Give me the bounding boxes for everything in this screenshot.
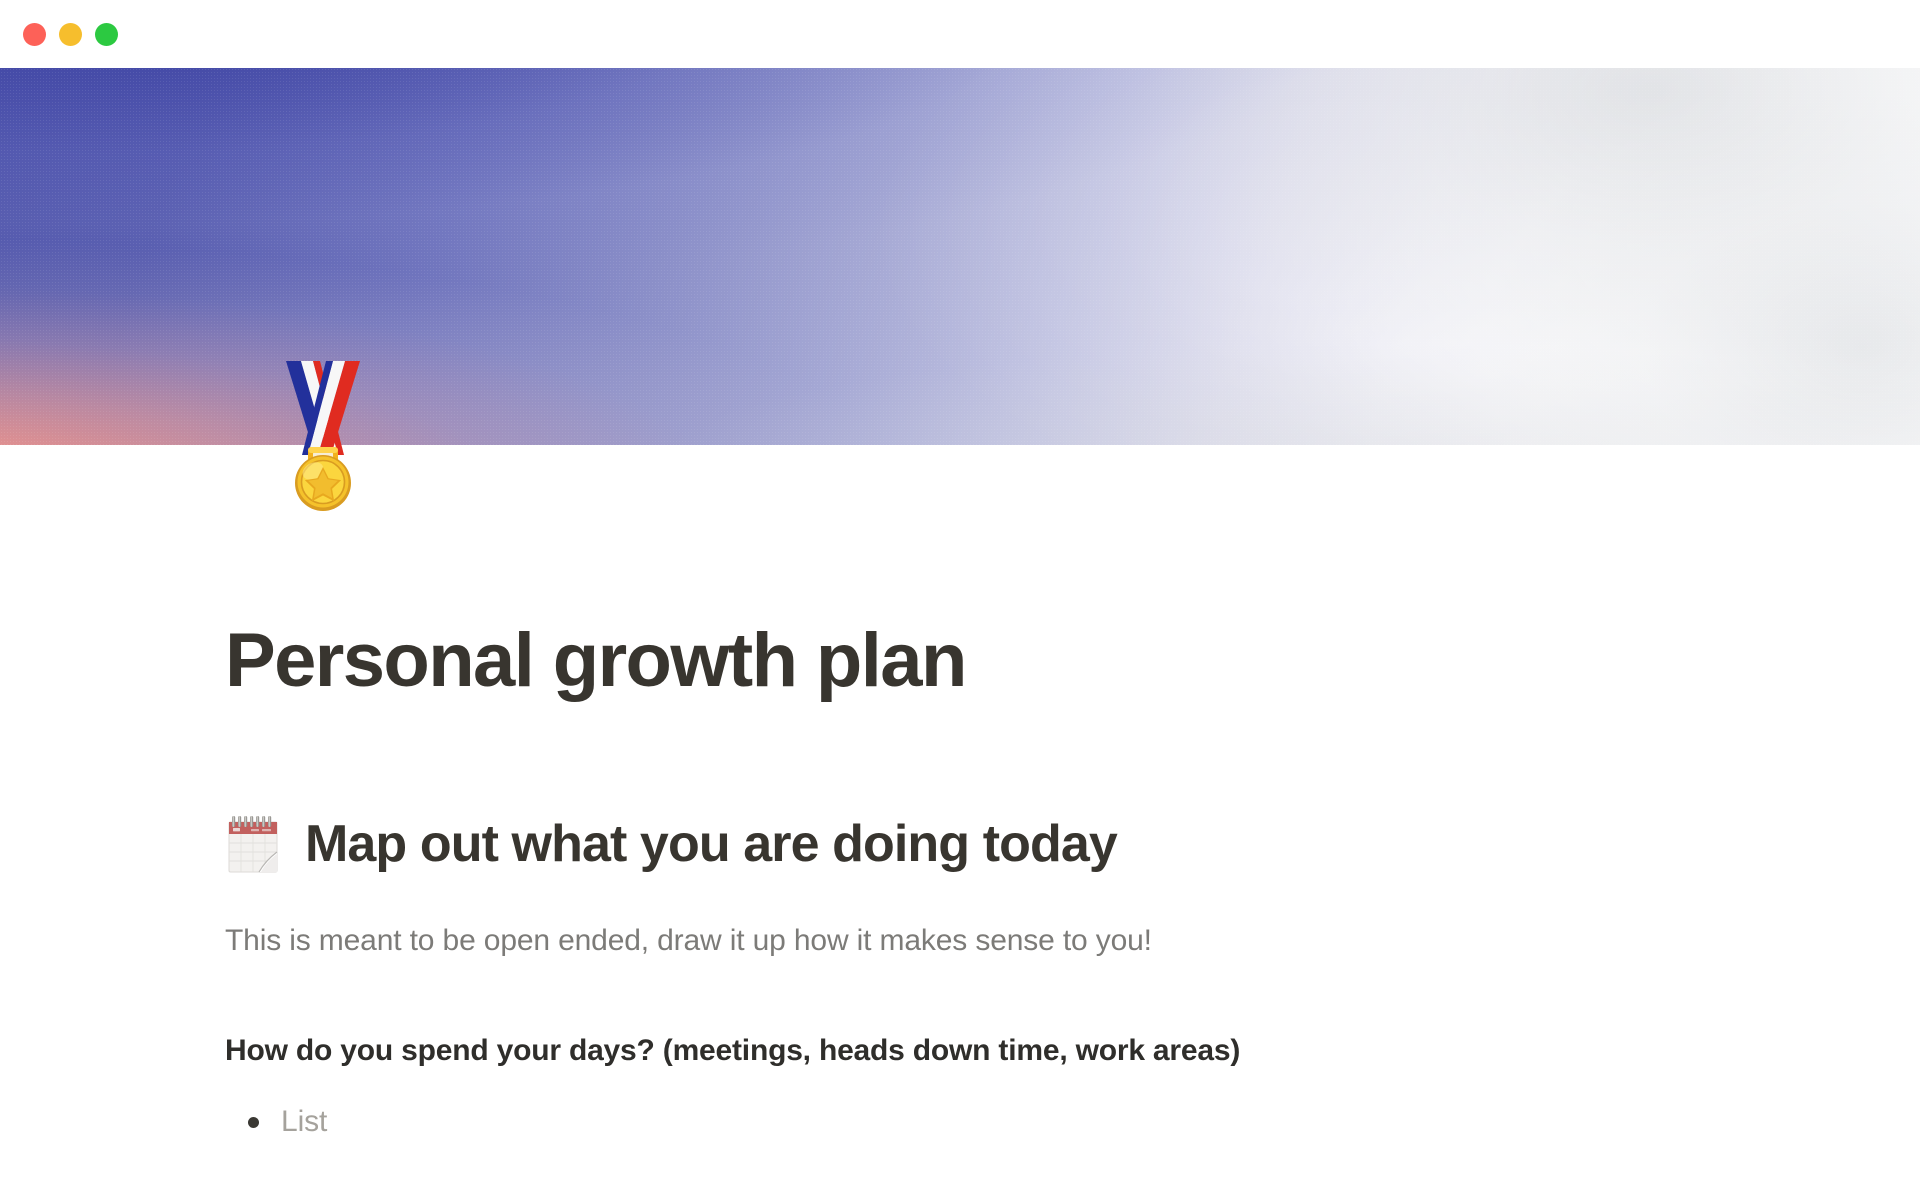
document-body: Personal growth plan xyxy=(0,445,1920,1200)
bullet-dot-icon xyxy=(225,1100,281,1144)
section-heading[interactable]: Map out what you are doing today xyxy=(225,812,1755,878)
list-item-placeholder[interactable]: List xyxy=(281,1100,327,1144)
minimize-window-button[interactable] xyxy=(59,23,82,46)
document-content-column: Personal growth plan xyxy=(225,445,1755,1144)
question-prompt[interactable]: How do you spend your days? (meetings, h… xyxy=(225,1030,1755,1073)
window-titlebar xyxy=(0,0,1920,68)
list-item[interactable]: List xyxy=(225,1100,1755,1144)
window-traffic-lights xyxy=(23,23,118,46)
spiral-notepad-icon xyxy=(225,812,285,878)
maximize-window-button[interactable] xyxy=(95,23,118,46)
app-window: Personal growth plan xyxy=(0,0,1920,1200)
close-window-button[interactable] xyxy=(23,23,46,46)
bulleted-list: List xyxy=(225,1100,1755,1144)
gold-medal-icon[interactable] xyxy=(268,343,378,513)
section-subtitle[interactable]: This is meant to be open ended, draw it … xyxy=(225,920,1755,963)
section-heading-text: Map out what you are doing today xyxy=(305,815,1117,874)
page-title[interactable]: Personal growth plan xyxy=(225,620,1755,702)
